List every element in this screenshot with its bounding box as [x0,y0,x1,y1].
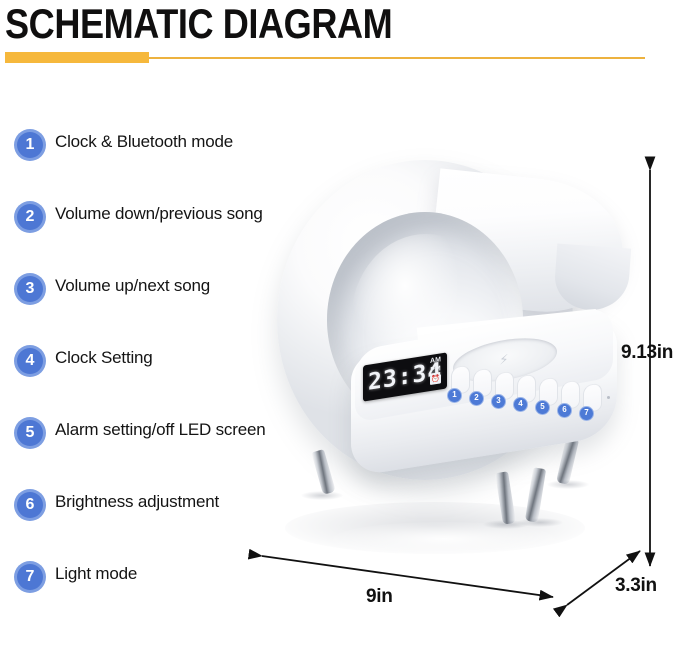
leg-shadow [517,518,563,527]
button-marker-1: 1 [447,388,462,403]
legend-badge-number: 6 [26,497,35,513]
page-title: SCHEMATIC DIAGRAM [5,0,392,50]
leg-rear-left [311,449,336,495]
title-rule-thin [149,57,645,59]
button-marker-6: 6 [557,403,572,418]
height-dimension-label: 9.13in [621,342,673,364]
legend-label: Light mode [55,564,137,584]
leg-rear-right [556,437,579,485]
legend-badge-number: 3 [26,281,35,297]
legend-badge-number: 2 [26,209,35,225]
legend-badge-1: 1 [14,129,46,161]
legend-label: Clock & Bluetooth mode [55,132,233,152]
legend-badge-7: 7 [14,561,46,593]
depth-dimension-label: 3.3in [615,575,657,597]
legend-badge-4: 4 [14,345,46,377]
legend-badge-6: 6 [14,489,46,521]
led-am-indicator: AM [430,356,441,365]
legend-badge-3: 3 [14,273,46,305]
button-marker-7: 7 [579,406,594,421]
legend-badge-2: 2 [14,201,46,233]
legend-badge-number: 1 [26,137,35,153]
legend-badge-5: 5 [14,417,46,449]
legend-badge-number: 5 [26,425,35,441]
indicator-dot [607,396,610,399]
legend-label: Volume down/previous song [55,204,263,224]
legend-badge-number: 4 [26,353,35,369]
led-indicators: AM PM ⏰ [427,355,444,386]
legend-label: Clock Setting [55,348,153,368]
touch-button-row [451,364,611,394]
leg-shadow [301,491,343,500]
led-pm-indicator: PM [430,365,441,374]
legend-label: Brightness adjustment [55,492,219,512]
button-marker-3: 3 [491,394,506,409]
leg-shadow [547,480,589,489]
legend-badge-number: 7 [26,569,35,585]
button-marker-5: 5 [535,400,550,415]
button-marker-2: 2 [469,391,484,406]
led-alarm-icon: ⏰ [430,374,441,385]
product-illustration: ⚡ 23:34 AM PM ⏰ 1 2 3 4 5 6 7 [255,150,635,580]
width-dimension-label: 9in [366,586,393,608]
legend-label: Volume up/next song [55,276,210,296]
button-marker-4: 4 [513,397,528,412]
title-rule-thick [5,52,149,63]
legend-label: Alarm setting/off LED screen [55,420,265,440]
